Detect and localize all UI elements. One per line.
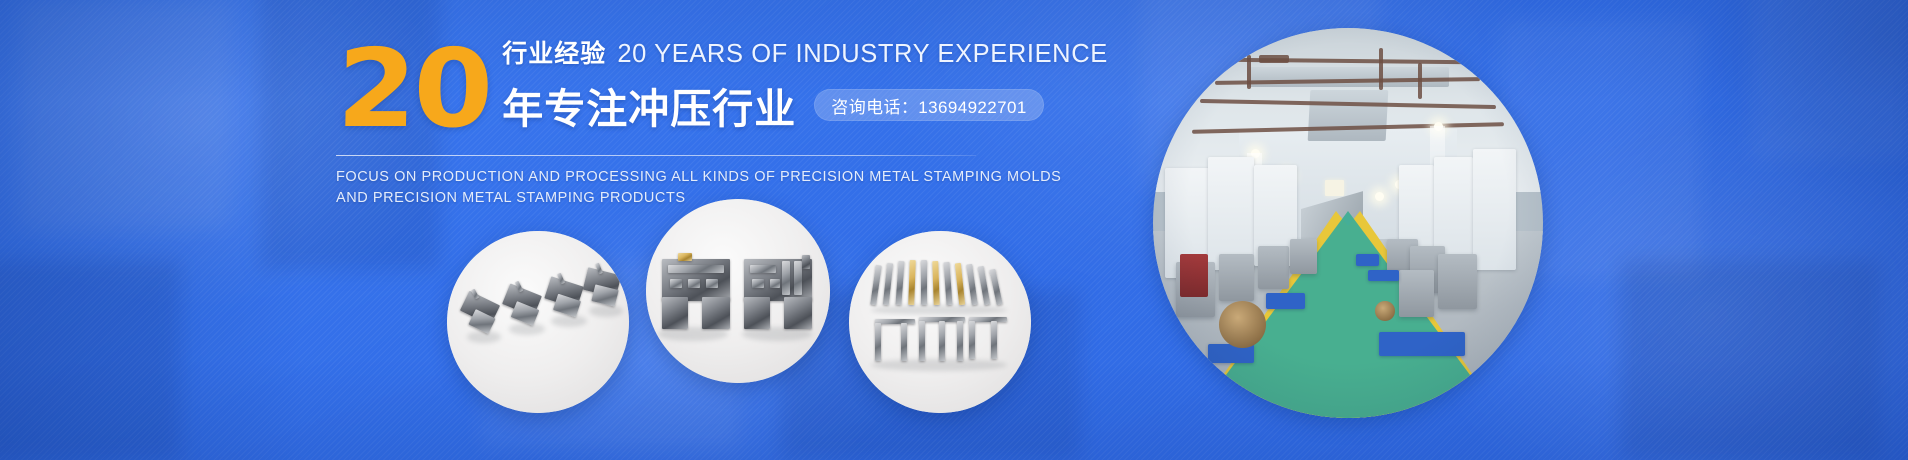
en-experience-label: 20 YEARS OF INDUSTRY EXPERIENCE bbox=[617, 40, 1108, 69]
progressive-stamping-die-image bbox=[646, 199, 830, 383]
years-number: 20 bbox=[336, 40, 491, 139]
headline-block: 20 行业经验 20 YEARS OF INDUSTRY EXPERIENCE … bbox=[336, 34, 1096, 210]
headline-divider bbox=[336, 155, 976, 156]
subtitle-line-1: FOCUS ON PRODUCTION AND PROCESSING ALL K… bbox=[336, 167, 1036, 188]
headline-line-top: 行业经验 20 YEARS OF INDUSTRY EXPERIENCE bbox=[502, 34, 1108, 70]
phone-badge[interactable]: 咨询电话：13694922701 bbox=[814, 89, 1043, 121]
headline-row: 20 行业经验 20 YEARS OF INDUSTRY EXPERIENCE … bbox=[336, 34, 1096, 139]
cn-focus-label: 年专注冲压行业 bbox=[502, 75, 796, 135]
cn-experience-label: 行业经验 bbox=[502, 34, 606, 70]
headline-text: 行业经验 20 YEARS OF INDUSTRY EXPERIENCE 年专注… bbox=[502, 34, 1108, 139]
photo-vignette bbox=[1153, 28, 1543, 418]
product-circle-metal-terminal-pins[interactable] bbox=[849, 231, 1031, 413]
product-circle-progressive-stamping-die[interactable] bbox=[646, 199, 830, 383]
product-circle-usb-connector-shells[interactable] bbox=[447, 231, 629, 413]
promo-banner: 20 行业经验 20 YEARS OF INDUSTRY EXPERIENCE … bbox=[0, 0, 1908, 460]
metal-terminal-pins-image bbox=[849, 231, 1031, 413]
headline-line-bottom: 年专注冲压行业 咨询电话：13694922701 bbox=[502, 75, 1108, 135]
usb-connector-shells-image bbox=[447, 231, 629, 413]
factory-workshop-photo[interactable] bbox=[1153, 28, 1543, 418]
